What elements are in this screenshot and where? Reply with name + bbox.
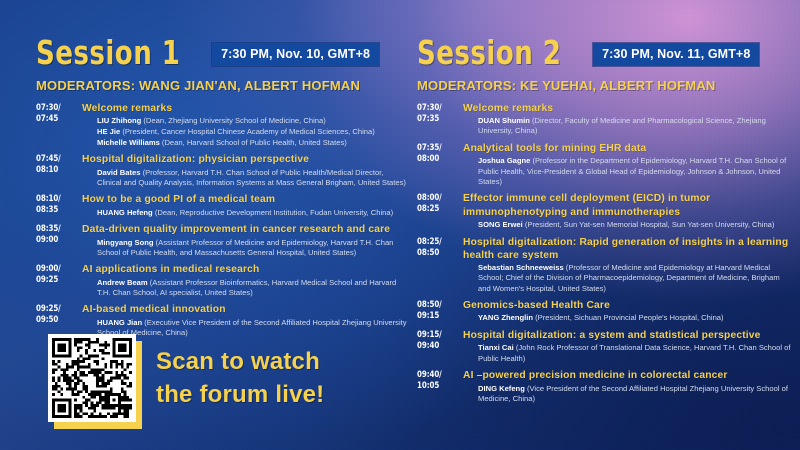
- speaker-entry: Sebastian Schneeweiss (Professor of Medi…: [478, 263, 793, 293]
- time-end: 08:25: [417, 204, 459, 215]
- agenda-item-body: Hospital digitalization: a system and st…: [463, 329, 793, 364]
- session-1-moderators: MODERATORS: WANG JIAN'AN, ALBERT HOFMAN: [36, 78, 408, 93]
- qr-code-wrapper[interactable]: [48, 334, 136, 422]
- speaker-entry: SONG Erwei (President, Sun Yat-sen Memor…: [478, 220, 793, 230]
- speaker-entry: Mingyang Song (Assistant Professor of Me…: [97, 238, 408, 258]
- speaker-list: DUAN Shumin (Director, Faculty of Medici…: [463, 116, 793, 136]
- speaker-affiliation: (Dean, Harvard School of Public Health, …: [160, 138, 347, 147]
- speaker-list: DING Kefeng (Vice President of the Secon…: [463, 384, 793, 404]
- agenda-item: 08:25/08:50Hospital digitalization: Rapi…: [417, 236, 793, 295]
- speaker-affiliation: (John Rock Professor of Translational Da…: [478, 343, 790, 362]
- speaker-entry: Andrew Beam (Assistant Professor Bioinfo…: [97, 278, 408, 298]
- speaker-name: HUANG Jian: [97, 318, 142, 327]
- speaker-list: HUANG Hefeng (Dean, Reproductive Develop…: [82, 208, 408, 218]
- promo-line-1: Scan to watch: [156, 345, 324, 378]
- agenda-item-time: 09:15/09:40: [417, 329, 459, 364]
- time-end: 08:10: [36, 165, 78, 176]
- agenda-item-time: 08:10/08:35: [36, 193, 78, 218]
- agenda-item-body: Genomics-based Health CareYANG Zhenglin …: [463, 299, 793, 324]
- time-end: 08:50: [417, 248, 459, 259]
- time-start: 08:25/: [417, 237, 459, 248]
- agenda-item-topic: Data-driven quality improvement in cance…: [82, 223, 408, 236]
- session-1-agenda: 07:30/07:45Welcome remarksLIU Zhihong (D…: [36, 102, 408, 338]
- agenda-item-time: 07:45/08:10: [36, 153, 78, 188]
- agenda-item: 07:45/08:10Hospital digitalization: phys…: [36, 153, 408, 188]
- speaker-name: Joshua Gagne: [478, 156, 530, 165]
- speaker-entry: HE Jie (President, Cancer Hospital Chine…: [97, 127, 408, 137]
- agenda-item-body: Hospital digitalization: Rapid generatio…: [463, 236, 793, 295]
- speaker-list: Tianxi Cai (John Rock Professor of Trans…: [463, 343, 793, 363]
- time-start: 07:30/: [36, 103, 78, 114]
- agenda-item: 07:35/08:00Analytical tools for mining E…: [417, 142, 793, 187]
- speaker-list: Sebastian Schneeweiss (Professor of Medi…: [463, 263, 793, 293]
- time-end: 07:45: [36, 114, 78, 125]
- speaker-affiliation: (Professor, Harvard T.H. Chan School of …: [97, 168, 406, 187]
- agenda-item-body: Effector immune cell deployment (EICD) i…: [463, 192, 793, 230]
- agenda-item-topic: Hospital digitalization: Rapid generatio…: [463, 236, 793, 263]
- speaker-entry: HUANG Hefeng (Dean, Reproductive Develop…: [97, 208, 408, 218]
- speaker-affiliation: (Dean, Zhejiang University School of Med…: [141, 116, 325, 125]
- agenda-item-topic: Genomics-based Health Care: [463, 299, 793, 312]
- agenda-item-body: How to be a good PI of a medical teamHUA…: [82, 193, 408, 218]
- session-1-time-badge: 7:30 PM, Nov. 10, GMT+8: [212, 43, 379, 66]
- speaker-affiliation: (President, Cancer Hospital Chinese Acad…: [120, 127, 375, 136]
- agenda-item-topic: AI applications in medical research: [82, 263, 408, 276]
- time-end: 08:35: [36, 205, 78, 216]
- speaker-name: LIU Zhihong: [97, 116, 141, 125]
- speaker-list: SONG Erwei (President, Sun Yat-sen Memor…: [463, 220, 793, 230]
- agenda-item-time: 09:00/09:25: [36, 263, 78, 298]
- agenda-item-time: 07:30/07:35: [417, 102, 459, 137]
- speaker-entry: Michelle Williams (Dean, Harvard School …: [97, 138, 408, 148]
- speaker-list: YANG Zhenglin (President, Sichuan Provin…: [463, 313, 793, 323]
- speaker-affiliation: (Dean, Reproductive Development Institut…: [153, 208, 393, 217]
- time-start: 07:45/: [36, 154, 78, 165]
- session-2-moderators: MODERATORS: KE YUEHAI, ALBERT HOFMAN: [417, 78, 793, 93]
- agenda-item-topic: Welcome remarks: [463, 102, 793, 115]
- time-start: 09:15/: [417, 330, 459, 341]
- agenda-item-topic: Hospital digitalization: physician persp…: [82, 153, 408, 166]
- agenda-item-topic: Effector immune cell deployment (EICD) i…: [463, 192, 793, 219]
- agenda-item: 07:30/07:35Welcome remarksDUAN Shumin (D…: [417, 102, 793, 137]
- speaker-entry: DUAN Shumin (Director, Faculty of Medici…: [478, 116, 793, 136]
- forum-agenda-poster: Session 1 7:30 PM, Nov. 10, GMT+8 MODERA…: [0, 0, 800, 450]
- speaker-affiliation: (Vice President of the Second Affiliated…: [478, 384, 788, 403]
- speaker-name: Sebastian Schneeweiss: [478, 263, 564, 272]
- speaker-list: Joshua Gagne (Professor in the Departmen…: [463, 156, 793, 186]
- time-end: 09:15: [417, 311, 459, 322]
- time-start: 09:25/: [36, 304, 78, 315]
- agenda-item-time: 07:30/07:45: [36, 102, 78, 148]
- agenda-item: 09:00/09:25AI applications in medical re…: [36, 263, 408, 298]
- agenda-item-body: Welcome remarksLIU Zhihong (Dean, Zhejia…: [82, 102, 408, 148]
- speaker-entry: LIU Zhihong (Dean, Zhejiang University S…: [97, 116, 408, 126]
- session-2-title: Session 2: [417, 36, 561, 69]
- agenda-item: 09:15/09:40Hospital digitalization: a sy…: [417, 329, 793, 364]
- speaker-entry: David Bates (Professor, Harvard T.H. Cha…: [97, 168, 408, 188]
- session-1-title: Session 1: [36, 36, 180, 69]
- speaker-entry: Joshua Gagne (Professor in the Departmen…: [478, 156, 793, 186]
- agenda-item-topic: How to be a good PI of a medical team: [82, 193, 408, 206]
- agenda-item-time: 07:35/08:00: [417, 142, 459, 187]
- speaker-name: YANG Zhenglin: [478, 313, 533, 322]
- agenda-item: 07:30/07:45Welcome remarksLIU Zhihong (D…: [36, 102, 408, 148]
- speaker-name: Andrew Beam: [97, 278, 148, 287]
- time-end: 10:05: [417, 381, 459, 392]
- speaker-name: David Bates: [97, 168, 140, 177]
- speaker-affiliation: (President, Sichuan Provincial People's …: [533, 313, 724, 322]
- agenda-item: 08:00/08:25Effector immune cell deployme…: [417, 192, 793, 230]
- speaker-name: HUANG Hefeng: [97, 208, 153, 217]
- agenda-item-topic: Hospital digitalization: a system and st…: [463, 329, 793, 342]
- qr-code-icon[interactable]: [48, 334, 136, 422]
- promo-line-2: the forum live!: [156, 378, 324, 411]
- speaker-name: SONG Erwei: [478, 220, 523, 229]
- time-start: 08:00/: [417, 193, 459, 204]
- time-start: 07:30/: [417, 103, 459, 114]
- speaker-entry: DING Kefeng (Vice President of the Secon…: [478, 384, 793, 404]
- speaker-name: Mingyang Song: [97, 238, 154, 247]
- agenda-item: 08:50/09:15Genomics-based Health CareYAN…: [417, 299, 793, 324]
- session-2-time-badge: 7:30 PM, Nov. 11, GMT+8: [593, 43, 759, 66]
- speaker-entry: YANG Zhenglin (President, Sichuan Provin…: [478, 313, 793, 323]
- agenda-item-time: 08:25/08:50: [417, 236, 459, 295]
- speaker-name: HE Jie: [97, 127, 120, 136]
- agenda-item-topic: Analytical tools for mining EHR data: [463, 142, 793, 155]
- promo-text: Scan to watch the forum live!: [156, 345, 324, 411]
- time-end: 09:00: [36, 235, 78, 246]
- time-end: 09:25: [36, 275, 78, 286]
- agenda-item-body: Data-driven quality improvement in cance…: [82, 223, 408, 258]
- agenda-item-time: 09:40/10:05: [417, 369, 459, 404]
- time-end: 07:35: [417, 114, 459, 125]
- speaker-affiliation: (President, Sun Yat-sen Memorial Hospita…: [523, 220, 775, 229]
- agenda-item-time: 08:35/09:00: [36, 223, 78, 258]
- session-2-agenda: 07:30/07:35Welcome remarksDUAN Shumin (D…: [417, 102, 793, 404]
- time-start: 08:10/: [36, 194, 78, 205]
- agenda-item-time: 08:50/09:15: [417, 299, 459, 324]
- speaker-name: Michelle Williams: [97, 138, 160, 147]
- time-start: 08:50/: [417, 300, 459, 311]
- time-end: 08:00: [417, 154, 459, 165]
- speaker-name: DING Kefeng: [478, 384, 525, 393]
- time-start: 07:35/: [417, 143, 459, 154]
- speaker-name: Tianxi Cai: [478, 343, 514, 352]
- live-stream-promo: Scan to watch the forum live!: [48, 334, 324, 422]
- agenda-item-body: AI –powered precision medicine in colore…: [463, 369, 793, 404]
- agenda-item-body: Analytical tools for mining EHR dataJosh…: [463, 142, 793, 187]
- time-start: 09:00/: [36, 264, 78, 275]
- agenda-item-topic: AI-based medical innovation: [82, 303, 408, 316]
- session-2-column: Session 2 7:30 PM, Nov. 11, GMT+8 MODERA…: [417, 0, 793, 450]
- agenda-item-body: AI applications in medical researchAndre…: [82, 263, 408, 298]
- time-end: 09:50: [36, 315, 78, 326]
- agenda-item-body: Welcome remarksDUAN Shumin (Director, Fa…: [463, 102, 793, 137]
- speaker-list: David Bates (Professor, Harvard T.H. Cha…: [82, 168, 408, 188]
- speaker-list: Andrew Beam (Assistant Professor Bioinfo…: [82, 278, 408, 298]
- agenda-item-body: Hospital digitalization: physician persp…: [82, 153, 408, 188]
- speaker-name: DUAN Shumin: [478, 116, 530, 125]
- agenda-item: 09:40/10:05AI –powered precision medicin…: [417, 369, 793, 404]
- agenda-item: 08:35/09:00Data-driven quality improveme…: [36, 223, 408, 258]
- agenda-item-topic: AI –powered precision medicine in colore…: [463, 369, 793, 382]
- agenda-item-time: 08:00/08:25: [417, 192, 459, 230]
- time-start: 08:35/: [36, 224, 78, 235]
- time-end: 09:40: [417, 341, 459, 352]
- speaker-list: Mingyang Song (Assistant Professor of Me…: [82, 238, 408, 258]
- agenda-item-topic: Welcome remarks: [82, 102, 408, 115]
- agenda-item: 08:10/08:35How to be a good PI of a medi…: [36, 193, 408, 218]
- session-1-header: Session 1 7:30 PM, Nov. 10, GMT+8: [36, 0, 408, 69]
- session-2-header: Session 2 7:30 PM, Nov. 11, GMT+8: [417, 0, 793, 69]
- speaker-list: LIU Zhihong (Dean, Zhejiang University S…: [82, 116, 408, 147]
- speaker-entry: Tianxi Cai (John Rock Professor of Trans…: [478, 343, 793, 363]
- time-start: 09:40/: [417, 370, 459, 381]
